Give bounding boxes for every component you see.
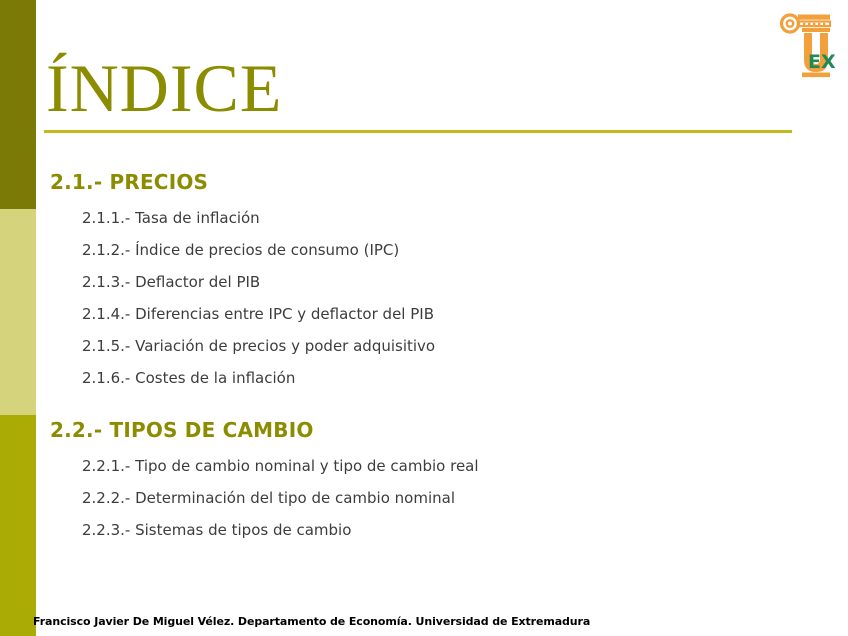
section-items-precios: 2.1.1.- Tasa de inflación 2.1.2.- Índice…: [44, 202, 804, 394]
index-content: 2.1.- PRECIOS 2.1.1.- Tasa de inflación …: [44, 168, 804, 546]
list-item[interactable]: 2.2.3.- Sistemas de tipos de cambio: [82, 514, 804, 546]
list-item[interactable]: 2.1.2.- Índice de precios de consumo (IP…: [82, 234, 804, 266]
section-heading-precios: 2.1.- PRECIOS: [44, 168, 804, 196]
svg-text:EX: EX: [808, 51, 836, 73]
section-items-tipos-de-cambio: 2.2.1.- Tipo de cambio nominal y tipo de…: [44, 450, 804, 546]
list-item[interactable]: 2.2.2.- Determinación del tipo de cambio…: [82, 482, 804, 514]
list-item[interactable]: 2.1.1.- Tasa de inflación: [82, 202, 804, 234]
sidebar-segment-medium-olive: [0, 415, 36, 636]
section-precios: 2.1.- PRECIOS 2.1.1.- Tasa de inflación …: [44, 168, 804, 394]
list-item[interactable]: 2.2.1.- Tipo de cambio nominal y tipo de…: [82, 450, 804, 482]
section-tipos-de-cambio: 2.2.- TIPOS DE CAMBIO 2.2.1.- Tipo de ca…: [44, 416, 804, 546]
uex-logo: EX: [778, 6, 840, 82]
list-item[interactable]: 2.1.3.- Deflactor del PIB: [82, 266, 804, 298]
sidebar-segment-dark-olive: [0, 0, 36, 209]
uex-logo-icon: EX: [778, 6, 840, 82]
list-item[interactable]: 2.1.5.- Variación de precios y poder adq…: [82, 330, 804, 362]
page-title: ÍNDICE: [46, 52, 282, 124]
slide-footer: Francisco Javier De Miguel Vélez. Depart…: [33, 615, 590, 628]
sidebar-segment-light-khaki: [0, 209, 36, 415]
section-heading-tipos-de-cambio: 2.2.- TIPOS DE CAMBIO: [44, 416, 804, 444]
list-item[interactable]: 2.1.6.- Costes de la inflación: [82, 362, 804, 394]
title-underline-rule: [44, 130, 792, 133]
list-item[interactable]: 2.1.4.- Diferencias entre IPC y deflacto…: [82, 298, 804, 330]
presentation-slide: EX ÍNDICE 2.1.- PRECIOS 2.1.1.- Tasa de …: [0, 0, 848, 636]
sidebar-decoration: [0, 0, 36, 636]
